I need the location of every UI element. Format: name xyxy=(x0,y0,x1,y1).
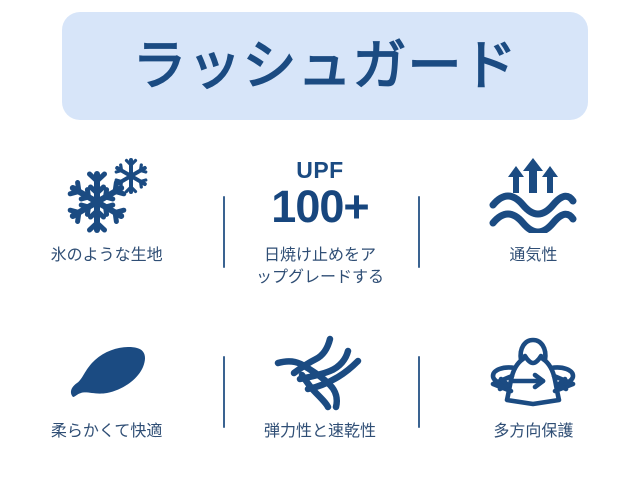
upf-value: 100+ xyxy=(271,184,368,229)
icon-container xyxy=(481,328,585,416)
feature-cell-soft-comfort: 柔らかくて快適 xyxy=(0,328,213,468)
feature-row-1: 氷のような生地 UPF 100+ 日焼け止めをア ップグレードする xyxy=(0,148,640,316)
upf-rating: UPF 100+ xyxy=(271,148,368,240)
snowflake-icon xyxy=(59,154,155,234)
icon-container xyxy=(59,148,155,240)
icon-container xyxy=(485,148,581,240)
feature-label-breathability: 通気性 xyxy=(509,244,557,266)
feature-cell-stretch-quickdry: 弾力性と速乾性 xyxy=(213,328,426,468)
stretch-fiber-icon xyxy=(272,333,368,411)
multi-directional-protection-icon xyxy=(481,334,585,410)
feature-label-multi-protection: 多方向保護 xyxy=(493,420,573,442)
page-title: ラッシュガード xyxy=(133,39,518,93)
feature-row-2: 柔らかくて快適 xyxy=(0,328,640,468)
feature-label-ice-fabric: 氷のような生地 xyxy=(51,244,163,266)
column-divider-row2-right xyxy=(418,356,420,428)
icon-container xyxy=(59,328,155,416)
header-banner: ラッシュガード xyxy=(62,12,588,120)
feature-cell-multi-protection: 多方向保護 xyxy=(427,328,640,468)
leaf-icon xyxy=(59,335,155,409)
column-divider-row1-left xyxy=(223,196,225,268)
infographic-page: ラッシュガード xyxy=(0,0,640,477)
feature-label-soft-comfort: 柔らかくて快適 xyxy=(51,420,163,442)
feature-label-stretch-quickdry: 弾力性と速乾性 xyxy=(264,420,376,442)
upf-prefix: UPF xyxy=(296,159,344,182)
feature-cell-upf: UPF 100+ 日焼け止めをア ップグレードする xyxy=(213,148,426,316)
feature-grid: 氷のような生地 UPF 100+ 日焼け止めをア ップグレードする xyxy=(0,140,640,477)
feature-label-upf: 日焼け止めをア ップグレードする xyxy=(256,244,384,287)
column-divider-row2-left xyxy=(223,356,225,428)
feature-cell-breathability: 通気性 xyxy=(427,148,640,316)
feature-cell-ice-fabric: 氷のような生地 xyxy=(0,148,213,316)
breathability-icon xyxy=(485,155,581,233)
icon-container xyxy=(272,328,368,416)
column-divider-row1-right xyxy=(418,196,420,268)
